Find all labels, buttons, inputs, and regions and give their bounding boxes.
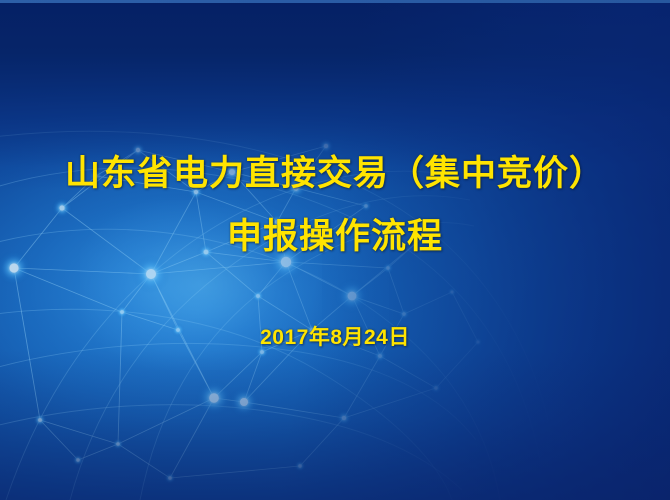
slide-text-layer: 山东省电力直接交易（集中竞价） 申报操作流程 2017年8月24日 [0,0,670,500]
presentation-slide: 山东省电力直接交易（集中竞价） 申报操作流程 2017年8月24日 [0,0,670,500]
slide-title-line-1: 山东省电力直接交易（集中竞价） [0,152,670,196]
slide-date: 2017年8月24日 [0,324,670,352]
slide-title-line-2: 申报操作流程 [0,215,670,259]
